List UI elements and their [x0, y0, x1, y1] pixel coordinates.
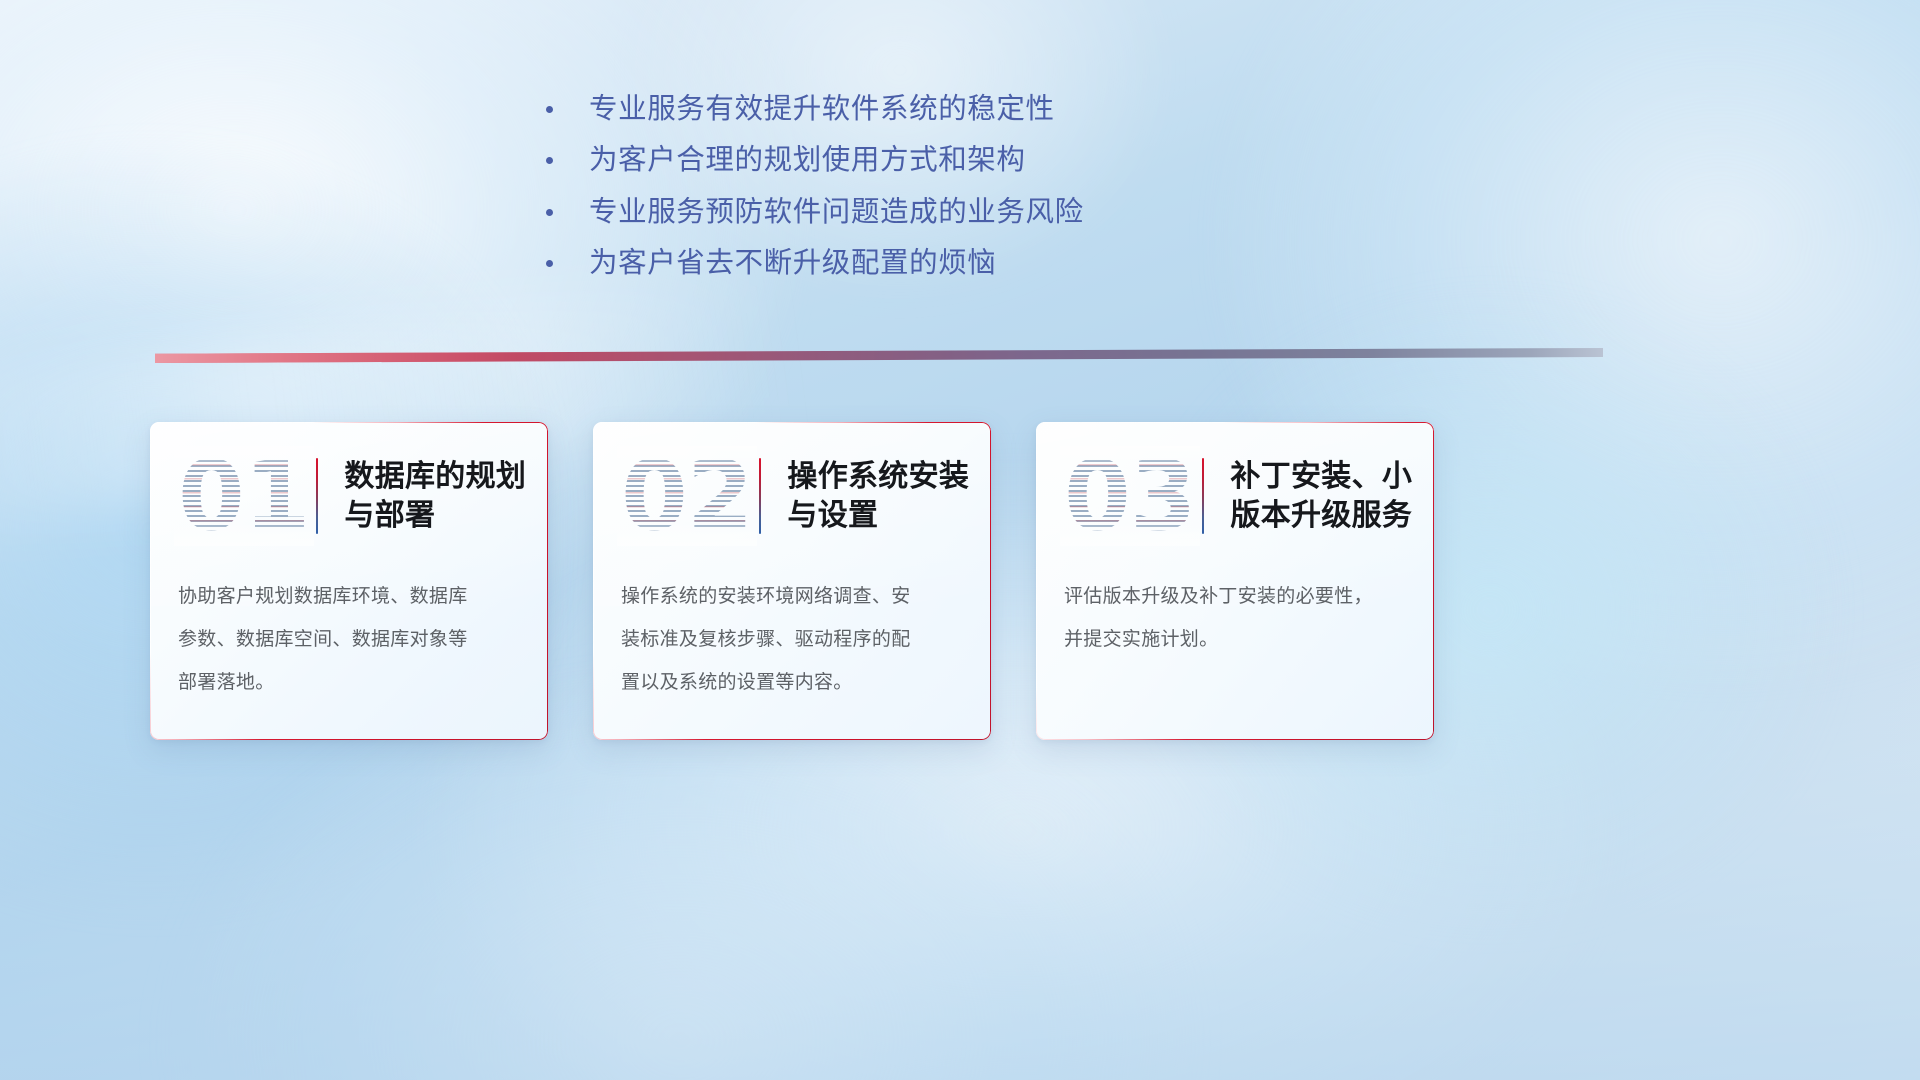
bullet-dot-icon: [546, 106, 553, 113]
list-item: 专业服务有效提升软件系统的稳定性: [535, 92, 1235, 127]
card-number-badge: 01 01: [178, 450, 310, 542]
card-title: 补丁安装、小 版本升级服务: [1230, 457, 1412, 535]
card-number-tint: 01: [178, 450, 310, 542]
list-item: 为客户省去不断升级配置的烦恼: [535, 246, 1235, 281]
list-item: 专业服务预防软件问题造成的业务风险: [535, 195, 1235, 230]
list-item: 为客户合理的规划使用方式和架构: [535, 143, 1235, 178]
bullet-dot-icon: [546, 260, 553, 267]
card-number-tint: 02: [621, 450, 753, 542]
service-card-list: 01 01 数据库的规划 与部署 协助客户规划数据库环境、数据库 参数、数据库空…: [150, 422, 1610, 742]
card-title-divider: [759, 458, 761, 534]
card-title: 操作系统安装 与设置: [787, 457, 969, 535]
card-header: 03 03 补丁安装、小 版本升级服务: [1036, 422, 1434, 570]
bullet-text: 为客户省去不断升级配置的烦恼: [589, 246, 996, 281]
card-number-badge: 02 02: [621, 450, 753, 542]
card-title-divider: [316, 458, 318, 534]
card-header: 02 02 操作系统安装 与设置: [593, 422, 991, 570]
card-number-badge: 03 03: [1064, 450, 1196, 542]
bullet-dot-icon: [546, 209, 553, 216]
benefits-bullet-list: 专业服务有效提升软件系统的稳定性 为客户合理的规划使用方式和架构 专业服务预防软…: [535, 92, 1235, 281]
bullet-text: 专业服务预防软件问题造成的业务风险: [589, 195, 1084, 230]
card-number-tint: 03: [1064, 450, 1196, 542]
section-divider: [155, 348, 1603, 363]
bullet-text: 专业服务有效提升软件系统的稳定性: [589, 92, 1055, 127]
card-title-divider: [1202, 458, 1204, 534]
card-title: 数据库的规划 与部署: [344, 457, 526, 535]
service-card-01[interactable]: 01 01 数据库的规划 与部署 协助客户规划数据库环境、数据库 参数、数据库空…: [150, 422, 548, 740]
card-body-text: 操作系统的安装环境网络调查、安 装标准及复核步骤、驱动程序的配 置以及系统的设置…: [621, 576, 965, 704]
card-body-text: 评估版本升级及补丁安装的必要性， 并提交实施计划。: [1064, 576, 1408, 662]
divider-highlight: [155, 348, 1603, 363]
bullet-text: 为客户合理的规划使用方式和架构: [589, 143, 1026, 178]
service-card-02[interactable]: 02 02 操作系统安装 与设置 操作系统的安装环境网络调查、安 装标准及复核步…: [593, 422, 991, 740]
service-card-03[interactable]: 03 03 补丁安装、小 版本升级服务 评估版本升级及补丁安装的必要性， 并提交…: [1036, 422, 1434, 740]
card-body-text: 协助客户规划数据库环境、数据库 参数、数据库空间、数据库对象等 部署落地。: [178, 576, 522, 704]
card-header: 01 01 数据库的规划 与部署: [150, 422, 548, 570]
bullet-dot-icon: [546, 157, 553, 164]
